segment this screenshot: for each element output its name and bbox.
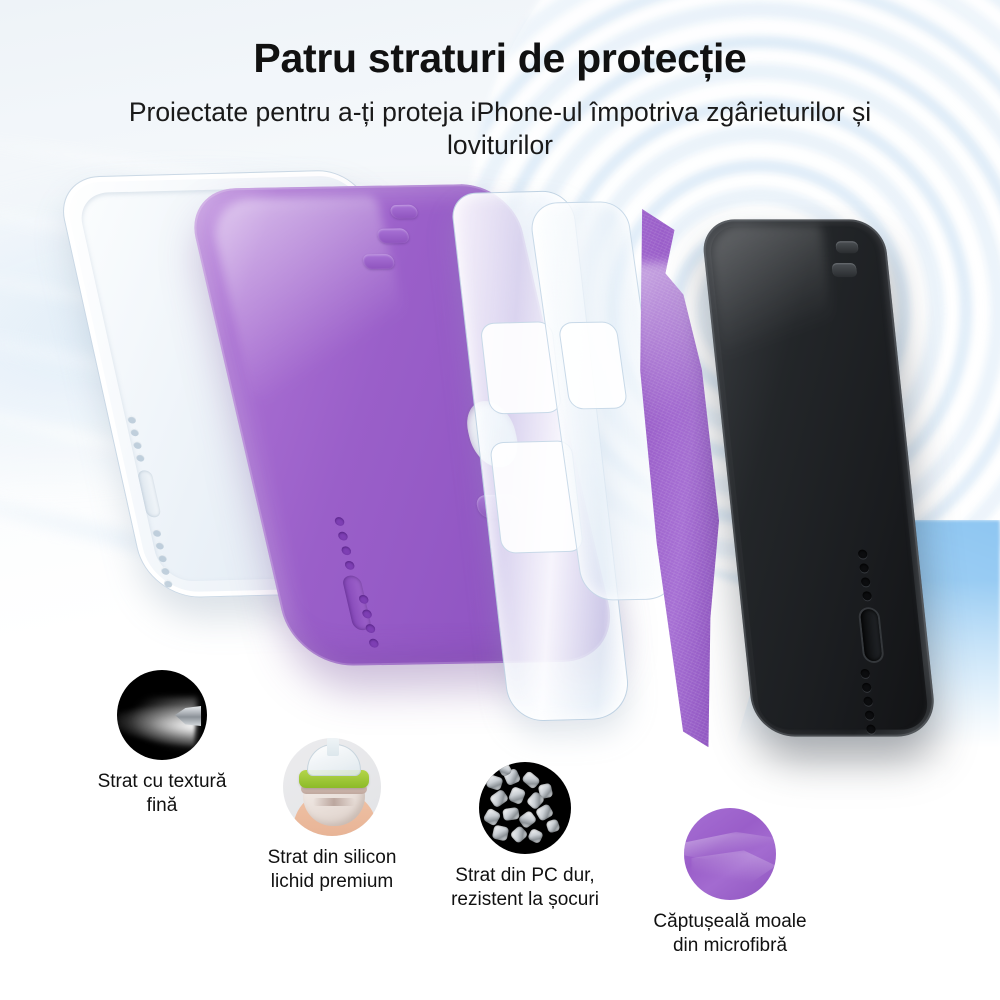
page-subtitle: Proiectate pentru a-ți proteja iPhone-ul…	[90, 96, 910, 163]
bottle-nipple	[327, 738, 339, 756]
silicone-volume-up-cutout	[376, 228, 410, 243]
silicone-mute-switch-cutout	[389, 205, 419, 219]
phone-edge-shine	[700, 219, 937, 736]
silicone-baby-bottle-icon	[283, 738, 381, 836]
product-feature-banner: Patru straturi de protecție Proiectate p…	[0, 0, 1000, 1000]
spray-mist	[117, 702, 196, 747]
feature-item-hard-pc: Strat din PC dur, rezistent la șocuri	[420, 762, 630, 913]
pc-plastic-pellets-icon	[479, 762, 571, 854]
feature-label: Strat din PC dur, rezistent la șocuri	[420, 864, 630, 913]
page-title: Patru straturi de protecție	[0, 36, 1000, 82]
feature-label: Căptușeală moale din microfibră	[620, 910, 840, 959]
bottle-brand-mark	[313, 798, 355, 806]
silicone-volume-down-cutout	[362, 254, 396, 269]
feature-item-microfiber-lining: Căptușeală moale din microfibră	[620, 808, 840, 959]
microfiber-cloth-icon	[684, 808, 776, 900]
feature-item-liquid-silicone: Strat din silicon lichid premium	[232, 738, 432, 895]
feature-label: Strat din silicon lichid premium	[232, 846, 432, 895]
black-phone	[700, 219, 937, 736]
spray-nozzle-icon	[117, 670, 207, 760]
pc-shell-cutout	[558, 321, 629, 409]
